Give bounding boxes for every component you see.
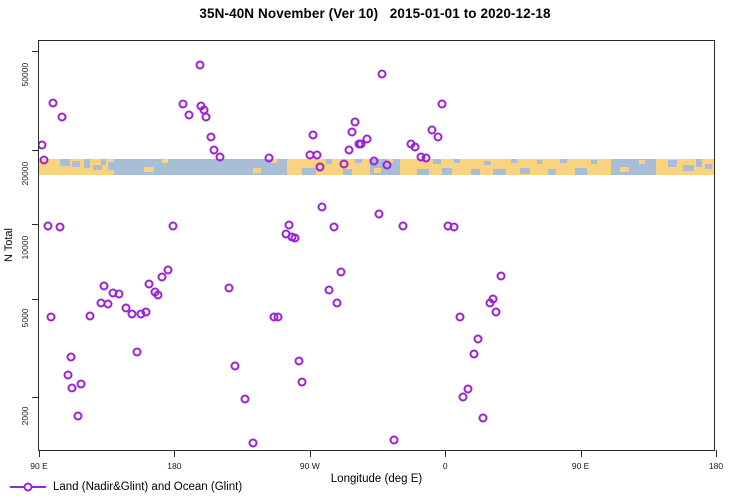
map-land-detail xyxy=(253,168,261,173)
data-point xyxy=(185,111,194,120)
map-ocean-detail xyxy=(537,160,542,164)
map-ocean-detail xyxy=(493,169,506,175)
data-point xyxy=(489,294,498,303)
data-point xyxy=(411,143,420,152)
map-ocean-detail xyxy=(575,168,587,175)
data-point xyxy=(39,140,47,149)
data-point xyxy=(86,312,95,321)
map-ocean-detail xyxy=(683,165,694,171)
data-point xyxy=(340,160,349,169)
data-point xyxy=(298,378,307,387)
data-point xyxy=(438,100,447,109)
data-point xyxy=(382,161,391,170)
y-axis-tick-label: 5000 xyxy=(20,308,30,327)
legend-circle-icon xyxy=(24,483,33,492)
data-point xyxy=(463,385,472,394)
data-point xyxy=(478,413,487,422)
map-ocean-detail xyxy=(60,159,70,166)
data-point xyxy=(66,353,75,362)
chart-root: 35N-40N November (Ver 10) 2015-01-01 to … xyxy=(0,0,750,500)
data-point xyxy=(56,223,65,232)
x-axis-tick-label: 180 xyxy=(709,461,723,471)
x-axis-tick-label: 180 xyxy=(167,461,181,471)
plot-canvas xyxy=(39,41,714,450)
data-point xyxy=(325,286,334,295)
map-ocean-detail xyxy=(454,159,460,163)
data-point xyxy=(421,154,430,163)
data-point xyxy=(128,309,137,318)
data-point xyxy=(74,411,83,420)
y-axis-tick-label: 2000 xyxy=(20,407,30,426)
map-ocean-detail xyxy=(520,168,530,174)
map-ocean-detail xyxy=(101,159,106,165)
data-point xyxy=(290,233,299,242)
data-point xyxy=(332,299,341,308)
data-point xyxy=(317,203,326,212)
data-point xyxy=(241,395,250,404)
x-axis-tick-label: 90 W xyxy=(300,461,320,471)
y-axis-label: N Total xyxy=(2,40,16,451)
map-ocean-detail xyxy=(302,168,316,175)
map-ocean-detail xyxy=(471,169,480,175)
data-point xyxy=(132,347,141,356)
map-ocean-detail xyxy=(511,159,517,163)
data-point xyxy=(265,154,274,163)
map-ocean-detail xyxy=(72,161,80,167)
map-ocean-detail xyxy=(326,159,332,164)
data-point xyxy=(474,334,483,343)
data-point xyxy=(295,356,304,365)
data-point xyxy=(57,113,66,122)
map-land-detail xyxy=(374,168,381,173)
map-ocean-detail xyxy=(705,164,712,169)
data-point xyxy=(450,223,459,232)
data-point xyxy=(347,128,356,137)
data-point xyxy=(39,155,48,164)
data-point xyxy=(496,271,505,280)
x-axis-tick xyxy=(174,450,175,457)
map-ocean-detail xyxy=(108,162,114,170)
data-point xyxy=(459,393,468,402)
legend-marker-key xyxy=(10,481,46,493)
map-ocean-detail xyxy=(343,169,352,175)
data-point xyxy=(350,117,359,126)
data-point xyxy=(329,223,338,232)
data-point xyxy=(492,308,501,317)
y-axis-tick-label: 50000 xyxy=(20,63,30,87)
data-point xyxy=(362,135,371,144)
x-axis-tick xyxy=(445,450,446,457)
data-point xyxy=(344,145,353,154)
y-axis-tick-label: 20000 xyxy=(20,162,30,186)
legend: Land (Nadir&Glint) and Ocean (Glint) xyxy=(6,479,246,495)
data-point xyxy=(337,268,346,277)
data-point xyxy=(114,290,123,299)
data-point xyxy=(68,383,77,392)
map-ocean-detail xyxy=(560,159,567,163)
data-point xyxy=(164,266,173,275)
map-ocean-detail xyxy=(668,160,677,167)
x-axis-tick-label: 0 xyxy=(443,461,448,471)
map-land-detail xyxy=(620,167,629,172)
data-point xyxy=(63,371,72,380)
data-point xyxy=(215,152,224,161)
y-axis-tick xyxy=(32,299,39,300)
legend-label: Land (Nadir&Glint) and Ocean (Glint) xyxy=(53,481,242,493)
data-point xyxy=(433,133,442,142)
map-ocean-detail xyxy=(442,168,452,175)
map-ocean-detail xyxy=(84,159,90,168)
data-point xyxy=(370,157,379,166)
map-ocean-detail xyxy=(548,169,556,175)
map-land-detail xyxy=(639,160,645,164)
data-point xyxy=(248,439,257,448)
x-axis-tick xyxy=(581,450,582,457)
y-axis-tick xyxy=(32,51,39,52)
data-point xyxy=(456,313,465,322)
x-axis-tick xyxy=(716,450,717,457)
data-point xyxy=(99,282,108,291)
data-point xyxy=(274,313,283,322)
data-point xyxy=(206,133,215,142)
data-point xyxy=(77,380,86,389)
data-point xyxy=(144,279,153,288)
data-point xyxy=(179,100,188,109)
map-ocean-detail xyxy=(355,159,362,163)
data-point xyxy=(141,308,150,317)
map-ocean-detail xyxy=(93,165,102,170)
map-land-detail xyxy=(162,159,168,163)
data-point xyxy=(316,163,325,172)
map-ocean-detail xyxy=(696,159,702,167)
data-point xyxy=(168,222,177,231)
map-land-detail xyxy=(144,167,154,172)
x-axis-tick xyxy=(310,450,311,457)
map-ocean-detail xyxy=(417,169,429,175)
data-point xyxy=(308,130,317,139)
data-point xyxy=(469,349,478,358)
data-point xyxy=(375,209,384,218)
data-point xyxy=(224,284,233,293)
x-axis-tick-label: 90 E xyxy=(30,461,48,471)
data-point xyxy=(44,222,53,231)
data-point xyxy=(104,300,113,309)
data-point xyxy=(284,221,293,230)
data-point xyxy=(48,98,57,107)
data-point xyxy=(399,221,408,230)
y-axis-tick xyxy=(32,397,39,398)
data-point xyxy=(230,361,239,370)
data-point xyxy=(201,113,210,122)
plot-area: 5000020000100005000200090 E18090 W090 E1… xyxy=(38,40,715,451)
data-point xyxy=(313,151,322,160)
y-axis-tick-label: 10000 xyxy=(20,236,30,260)
data-point xyxy=(47,313,56,322)
map-ocean-detail xyxy=(484,161,491,165)
chart-title: 35N-40N November (Ver 10) 2015-01-01 to … xyxy=(0,6,750,21)
data-point xyxy=(390,436,399,445)
map-ocean-detail xyxy=(433,159,441,164)
data-point xyxy=(195,60,204,69)
y-axis-tick xyxy=(32,224,39,225)
data-point xyxy=(378,69,387,78)
y-axis-tick xyxy=(32,150,39,151)
x-axis-tick-label: 90 E xyxy=(572,461,590,471)
data-point xyxy=(153,291,162,300)
x-axis-tick xyxy=(39,450,40,457)
map-ocean-detail xyxy=(591,160,597,164)
